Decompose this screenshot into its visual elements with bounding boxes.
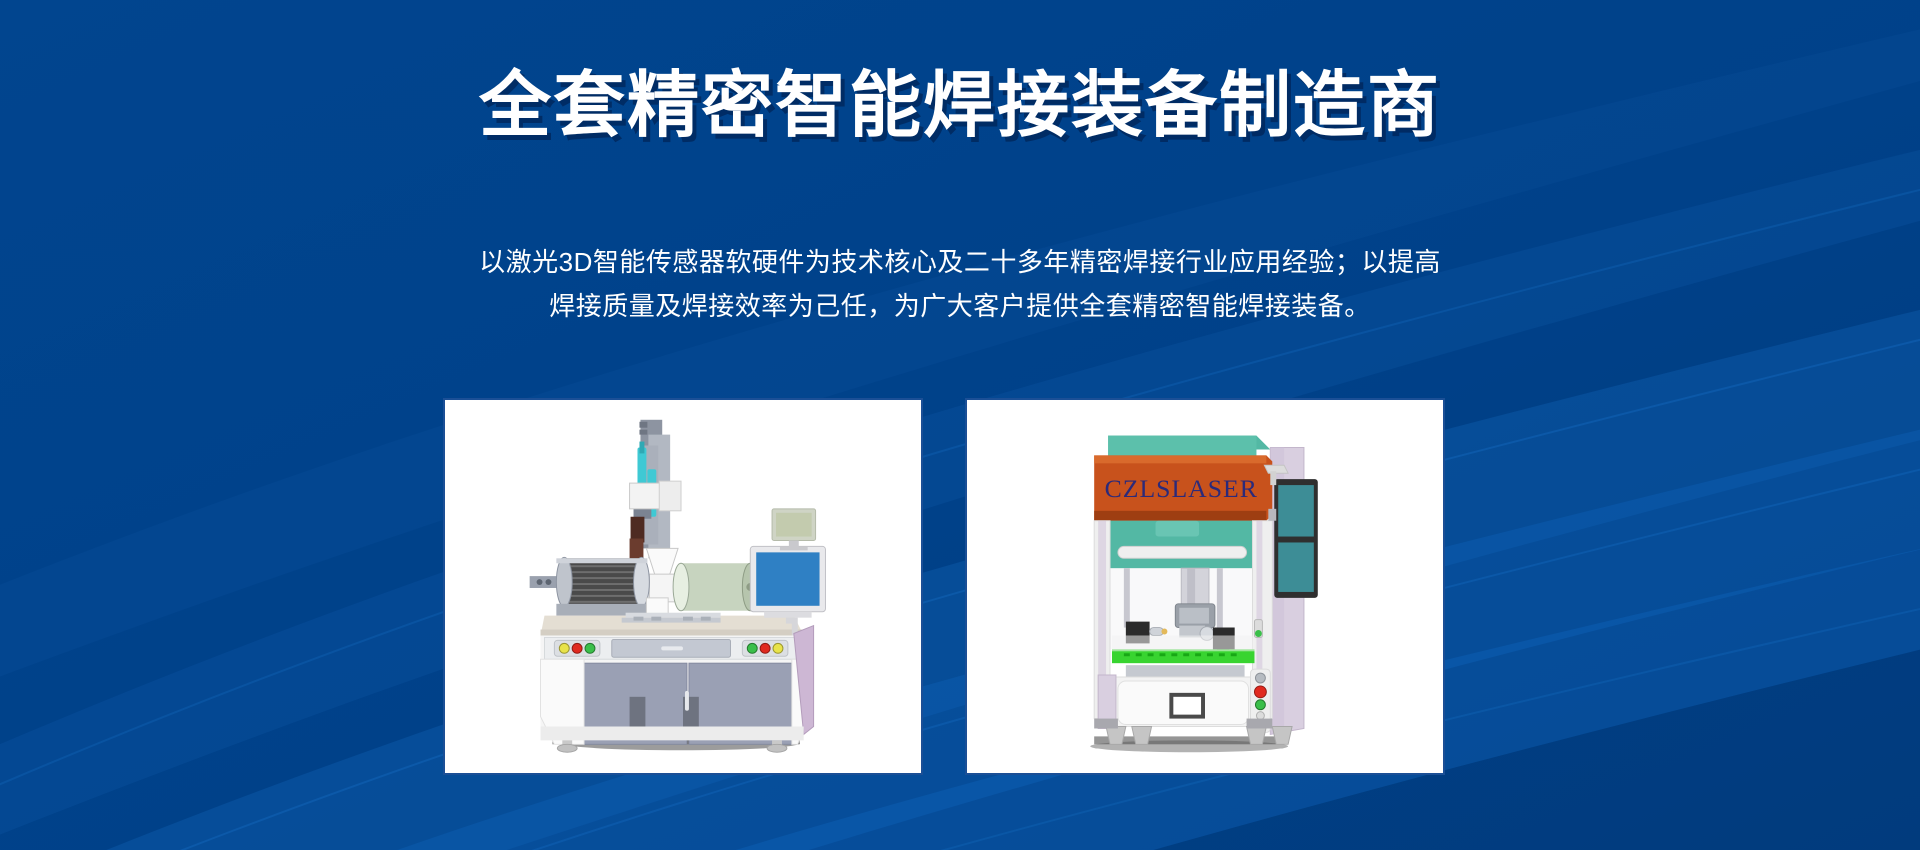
page-title: 全套精密智能焊接装备制造商 [0, 68, 1920, 146]
product-image-welding-workstation [445, 400, 921, 773]
subtitle-line-1: 以激光3D智能传感器软硬件为技术核心及二十多年精密焊接行业应用经验；以提高 [410, 240, 1510, 284]
subtitle-line-2: 焊接质量及焊接效率为己任，为广大客户提供全套精密智能焊接装备。 [410, 284, 1510, 328]
hero-banner: 全套精密智能焊接装备制造商 以激光3D智能传感器软硬件为技术核心及二十多年精密焊… [0, 0, 1920, 850]
product-card-precision-welding-workstation[interactable] [443, 398, 923, 775]
product-card-czls-laser-welding-cabinet[interactable]: CZLSLASER [965, 398, 1445, 775]
brand-label: CZLSLASER [1105, 474, 1258, 503]
product-gallery: CZLSLASER [443, 398, 1445, 775]
product-image-czls-laser-cabinet: CZLSLASER [967, 400, 1443, 773]
hero-subtitle: 以激光3D智能传感器软硬件为技术核心及二十多年精密焊接行业应用经验；以提高 焊接… [410, 240, 1510, 328]
